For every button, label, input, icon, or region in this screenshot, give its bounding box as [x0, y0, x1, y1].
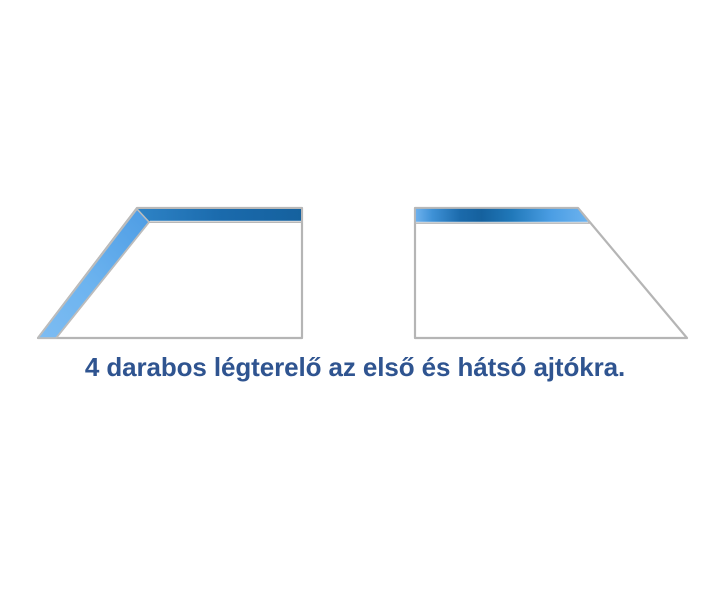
- front-door-deflector-figure: [38, 208, 302, 338]
- rear-deflector-strip: [415, 208, 590, 223]
- product-figure: [0, 0, 710, 613]
- rear-window-outline: [415, 208, 687, 338]
- deflector-diagram-svg: [0, 0, 710, 613]
- product-caption: 4 darabos légterelő az első és hátsó ajt…: [0, 352, 710, 383]
- rear-door-deflector-figure: [415, 208, 687, 338]
- front-window-outline: [38, 208, 302, 338]
